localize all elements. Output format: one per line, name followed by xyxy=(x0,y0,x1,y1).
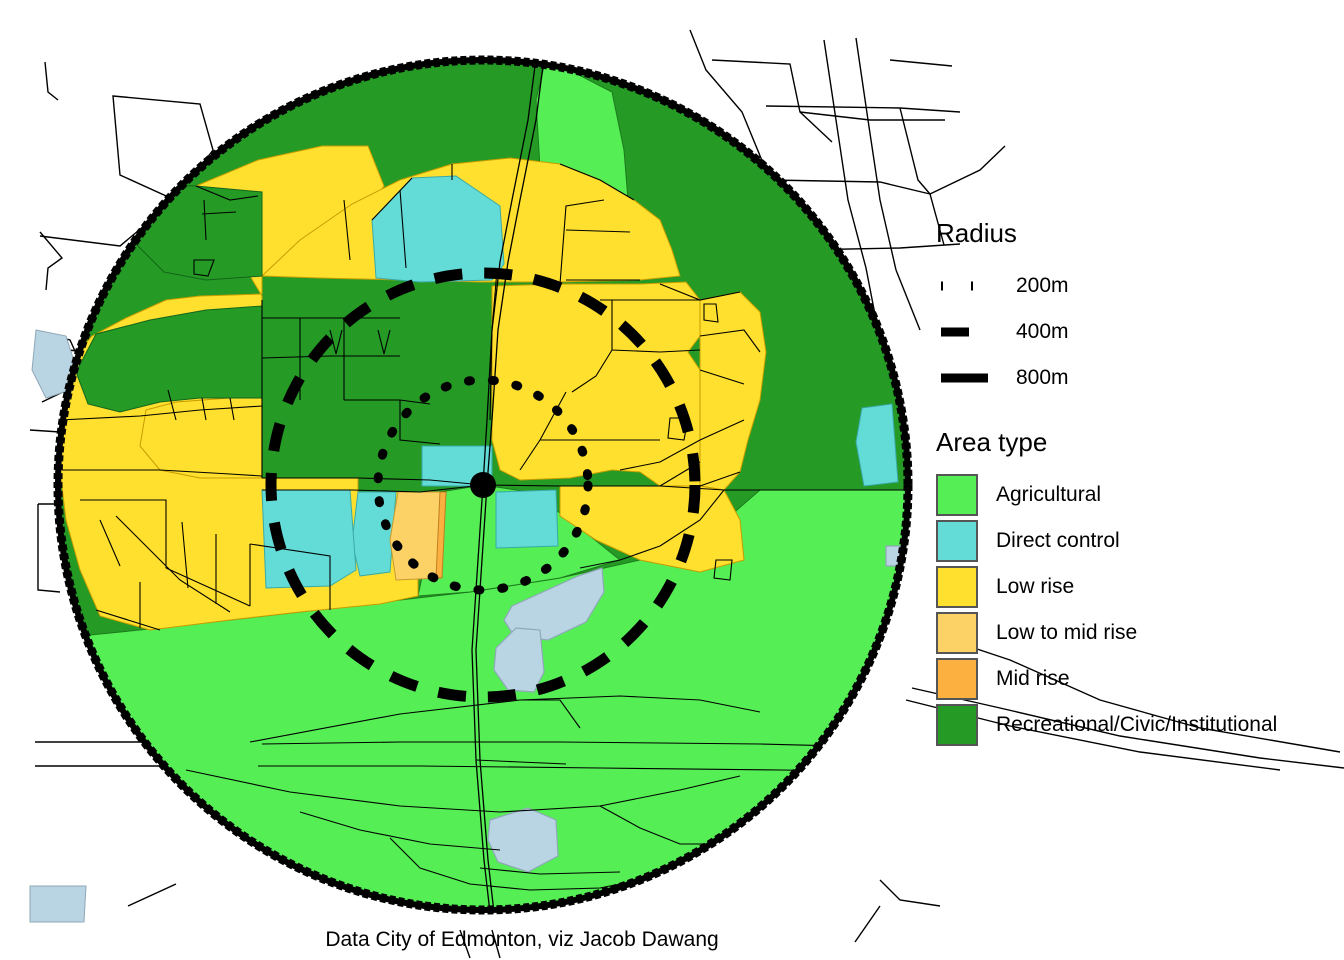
dotted-line-icon xyxy=(938,275,994,297)
radius-legend-item-400m[interactable]: 400m xyxy=(930,309,1340,355)
legend-panel: Radius 200m 400m 800m xyxy=(930,218,1340,748)
color-swatch-recreational xyxy=(936,704,978,746)
area-legend-label-low-to-mid-rise: Low to mid rise xyxy=(996,621,1137,645)
area-legend-item-low-rise[interactable]: Low rise xyxy=(930,564,1340,610)
zone-direct-control-west-strip xyxy=(352,492,396,576)
area-type-legend-heading: Area type xyxy=(936,427,1340,458)
color-swatch-direct-control xyxy=(936,520,978,562)
radius-legend-item-200m[interactable]: 200m xyxy=(930,263,1340,309)
color-swatch-low-rise xyxy=(936,566,978,608)
zone-direct-control-station-se xyxy=(496,490,558,548)
radius-legend-items: 200m 400m 800m xyxy=(930,263,1340,401)
area-legend-item-direct-control[interactable]: Direct control xyxy=(930,518,1340,564)
area-legend-label-mid-rise: Mid rise xyxy=(996,667,1070,691)
radius-legend-label-400m: 400m xyxy=(1016,320,1069,344)
area-legend-label-recreational: Recreational/Civic/Institutional xyxy=(996,713,1277,737)
area-type-legend-items: Agricultural Direct control Low rise Low… xyxy=(930,472,1340,748)
area-legend-item-recreational[interactable]: Recreational/Civic/Institutional xyxy=(930,702,1340,748)
area-legend-label-low-rise: Low rise xyxy=(996,575,1074,599)
area-legend-item-mid-rise[interactable]: Mid rise xyxy=(930,656,1340,702)
caption: Data City of Edmonton, viz Jacob Dawang xyxy=(0,928,1344,952)
color-swatch-mid-rise xyxy=(936,658,978,700)
station-marker[interactable] xyxy=(470,472,496,498)
area-legend-item-low-to-mid-rise[interactable]: Low to mid rise xyxy=(930,610,1340,656)
radius-legend-label-800m: 800m xyxy=(1016,366,1069,390)
area-legend-label-direct-control: Direct control xyxy=(996,529,1120,553)
area-legend-item-agricultural[interactable]: Agricultural xyxy=(930,472,1340,518)
zone-direct-control-east-edge xyxy=(856,404,898,486)
radius-legend-label-200m: 200m xyxy=(1016,274,1069,298)
solid-line-icon xyxy=(938,367,994,389)
radius-legend-item-800m[interactable]: 800m xyxy=(930,355,1340,401)
radius-legend-heading: Radius xyxy=(936,218,1340,249)
color-swatch-agricultural xyxy=(936,474,978,516)
caption-text: Data City of Edmonton, viz Jacob Dawang xyxy=(325,928,718,951)
dashed-line-icon xyxy=(938,321,994,343)
color-swatch-low-to-mid-rise xyxy=(936,612,978,654)
area-legend-label-agricultural: Agricultural xyxy=(996,483,1101,507)
